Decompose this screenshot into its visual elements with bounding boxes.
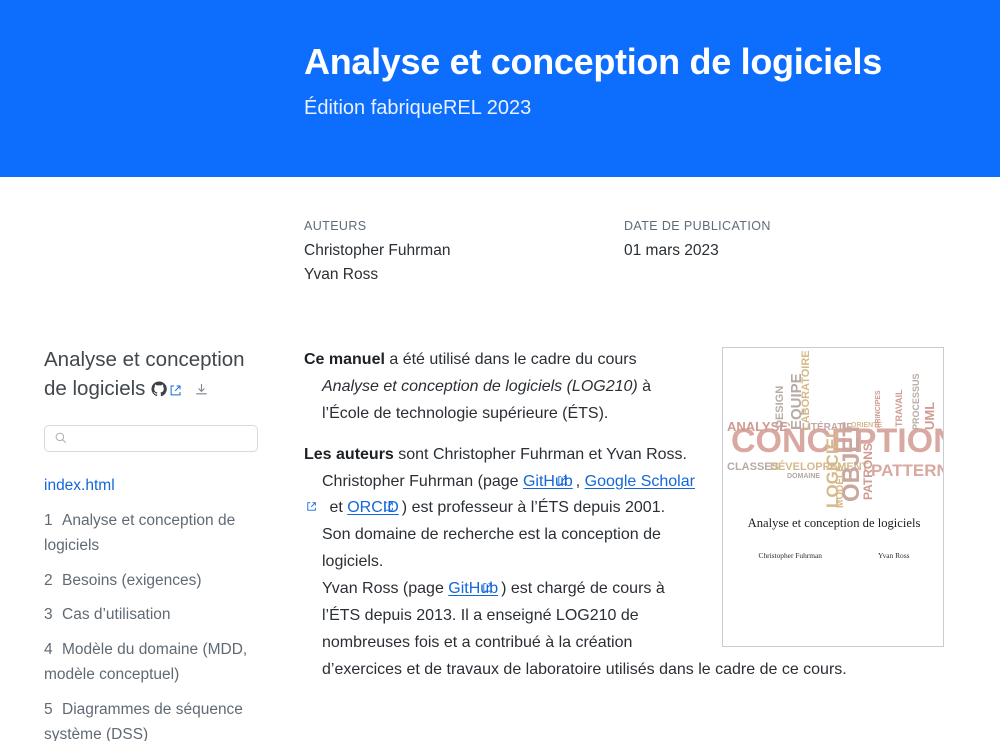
- banner-subtitle: Édition fabriqueREL 2023: [304, 82, 944, 120]
- external-link-icon[interactable]: [169, 376, 182, 405]
- cover-author-name: Yvan Ross: [878, 551, 910, 560]
- paragraph-text: sont Christopher Fuhrman et Yvan Ross.: [394, 446, 687, 463]
- main-content: CONCEPTIONPATTERNSANALYSECLASSESDÉVELOPP…: [304, 347, 944, 698]
- list-item: 2Besoins (exigences): [44, 569, 272, 594]
- sidebar-item-label: Analyse et conception de logiciels: [44, 512, 235, 554]
- sidebar-item-label: Modèle du domaine (MDD, modèle conceptue…: [44, 641, 247, 683]
- sidebar-item-chapter-1[interactable]: 1Analyse et conception de logiciels: [44, 509, 272, 559]
- wordcloud-word: TRAVAIL: [895, 389, 904, 427]
- wordcloud-word: LABORATOIRE: [801, 350, 812, 430]
- link-google-scholar[interactable]: Google Scholar: [585, 473, 695, 490]
- download-icon[interactable]: [194, 376, 209, 405]
- list-item: 1Analyse et conception de logiciels: [44, 509, 272, 559]
- wordcloud: CONCEPTIONPATTERNSANALYSECLASSESDÉVELOPP…: [723, 370, 944, 510]
- paragraph-text: et: [325, 499, 347, 516]
- list-item: 3Cas d’utilisation: [44, 603, 272, 628]
- sidebar-item-number: 2: [44, 569, 58, 594]
- sidebar-title: Analyse et conception de logiciels: [44, 345, 272, 405]
- sidebar-item-label: Cas d’utilisation: [62, 606, 171, 623]
- wordcloud-word: DOMAINE: [787, 473, 820, 480]
- sidebar-icon-group: [145, 377, 209, 400]
- paragraph-lead: Ce manuel: [304, 351, 385, 368]
- page-banner: Analyse et conception de logiciels Éditi…: [0, 0, 1000, 177]
- article-metadata: AUTEURS Christopher Fuhrman Yvan Ross DA…: [304, 217, 924, 287]
- wordcloud-word: PRINCIPES: [875, 390, 882, 428]
- list-item: 4Modèle du domaine (MDD, modèle conceptu…: [44, 638, 272, 688]
- sidebar-item-number: 1: [44, 509, 58, 534]
- sidebar-item-chapter-5[interactable]: 5Diagrammes de séquence système (DSS): [44, 698, 272, 741]
- wordcloud-word: PATTERNS: [871, 462, 944, 479]
- cover-authors: Christopher Fuhrman Yvan Ross: [723, 551, 944, 560]
- publication-date-value: 01 mars 2023: [624, 239, 924, 263]
- sidebar-item-number: 4: [44, 638, 58, 663]
- cover-author-name: Christopher Fuhrman: [759, 551, 822, 560]
- link-label: Google Scholar: [585, 473, 695, 490]
- course-title: Analyse et conception de logiciels (LOG2…: [322, 378, 638, 395]
- wordcloud-word: MODÈLE: [836, 465, 846, 508]
- sidebar-item-chapter-4[interactable]: 4Modèle du domaine (MDD, modèle conceptu…: [44, 638, 272, 688]
- book-cover-image: CONCEPTIONPATTERNSANALYSECLASSESDÉVELOPP…: [722, 347, 944, 647]
- book-cover-figure: CONCEPTIONPATTERNSANALYSECLASSESDÉVELOPP…: [722, 347, 944, 647]
- list-item: index.html: [44, 474, 272, 499]
- author-name: Yvan Ross: [304, 263, 624, 287]
- list-item: 5Diagrammes de séquence système (DSS): [44, 698, 272, 741]
- sidebar-nav: index.html 1Analyse et conception de log…: [44, 474, 272, 741]
- sidebar: Analyse et conception de logiciels index…: [44, 345, 272, 741]
- paragraph-text: a été utilisé dans le cadre du cours: [385, 351, 637, 368]
- publication-date-label: DATE DE PUBLICATION: [624, 217, 924, 236]
- sidebar-item-chapter-2[interactable]: 2Besoins (exigences): [44, 569, 272, 594]
- author-name: Christopher Fuhrman: [304, 239, 624, 263]
- search-input[interactable]: [74, 426, 252, 451]
- sidebar-item-number: 3: [44, 603, 58, 628]
- sidebar-item-label: Diagrammes de séquence système (DSS): [44, 701, 243, 741]
- wordcloud-word: PROCESSUS: [912, 373, 921, 430]
- paragraph-text: Yvan Ross (page: [322, 580, 448, 597]
- sidebar-item-label: index.html: [44, 477, 115, 494]
- banner-content: Analyse et conception de logiciels Éditi…: [304, 0, 944, 120]
- search-icon: [54, 431, 68, 450]
- paragraph-lead: Les auteurs: [304, 446, 394, 463]
- cover-title: Analyse et conception de logiciels: [723, 516, 944, 531]
- authors-label: AUTEURS: [304, 217, 624, 236]
- authors-block: AUTEURS Christopher Fuhrman Yvan Ross: [304, 217, 624, 287]
- paragraph-text: ,: [576, 473, 585, 490]
- sidebar-item-number: 5: [44, 698, 58, 723]
- sidebar-item-label: Besoins (exigences): [62, 572, 202, 589]
- search-box[interactable]: [44, 425, 258, 452]
- wordcloud-word: UML: [923, 402, 936, 430]
- wordcloud-word: DESIGN: [775, 386, 786, 428]
- github-icon[interactable]: [151, 376, 167, 405]
- paragraph-text: Christopher Fuhrman (page: [322, 473, 523, 490]
- sidebar-item-index[interactable]: index.html: [44, 474, 272, 499]
- wordcloud-word: PATRONS: [862, 443, 874, 500]
- publication-date-block: DATE DE PUBLICATION 01 mars 2023: [624, 217, 924, 287]
- banner-title: Analyse et conception de logiciels: [304, 0, 944, 82]
- page-body: AUTEURS Christopher Fuhrman Yvan Ross DA…: [0, 177, 1000, 741]
- sidebar-item-chapter-3[interactable]: 3Cas d’utilisation: [44, 603, 272, 628]
